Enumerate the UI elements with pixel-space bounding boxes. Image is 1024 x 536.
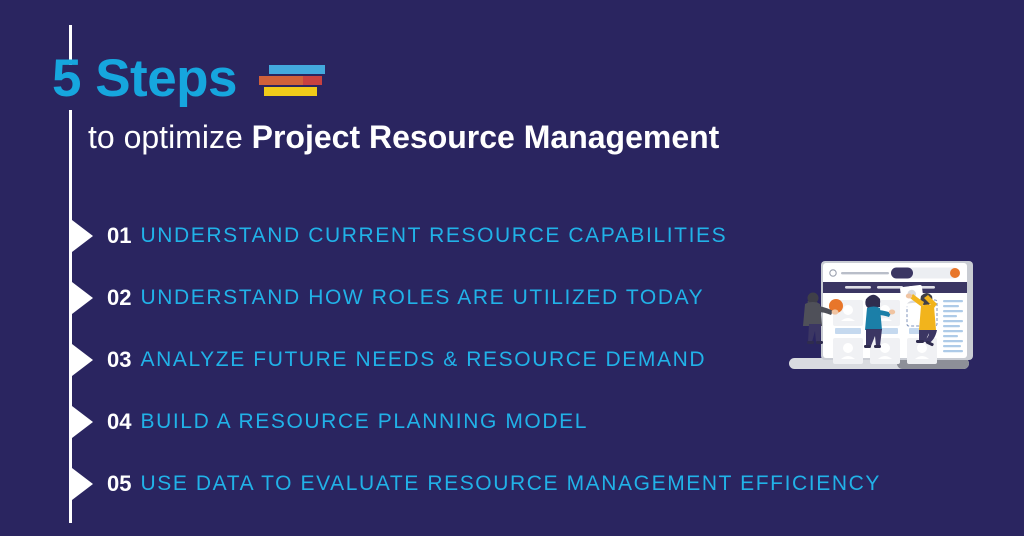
arrow-marker-icon <box>72 220 93 252</box>
step-label: UNDERSTAND HOW ROLES ARE UTILIZED TODAY <box>140 286 704 310</box>
stacked-bars-logo <box>259 63 325 101</box>
arrow-marker-icon <box>72 406 93 438</box>
step-number: 02 <box>107 285 131 311</box>
page-title: 5 Steps <box>52 52 237 105</box>
logo-bar-blue <box>269 65 325 74</box>
step-label: USE DATA TO EVALUATE RESOURCE MANAGEMENT… <box>140 472 881 496</box>
logo-bar-orange <box>259 76 303 85</box>
arrow-marker-icon <box>72 344 93 376</box>
list-item: 05 USE DATA TO EVALUATE RESOURCE MANAGEM… <box>69 453 949 515</box>
arrow-marker-icon <box>72 282 93 314</box>
title-row: 5 Steps <box>52 52 325 105</box>
arrow-marker-icon <box>72 468 93 500</box>
subtitle-strong-text: Project Resource Management <box>252 119 720 155</box>
step-number: 01 <box>107 223 131 249</box>
team-resource-management-illustration <box>785 250 990 378</box>
step-number: 05 <box>107 471 131 497</box>
step-number: 03 <box>107 347 131 373</box>
infographic-canvas: 5 Steps to optimize Project Resource Man… <box>0 0 1024 536</box>
subtitle-light-text: to optimize <box>88 119 243 155</box>
logo-bar-yellow <box>264 87 317 96</box>
page-subtitle: to optimize Project Resource Management <box>88 118 719 156</box>
list-item: 04 BUILD A RESOURCE PLANNING MODEL <box>69 391 949 453</box>
step-label: ANALYZE FUTURE NEEDS & RESOURCE DEMAND <box>140 348 706 372</box>
step-label: UNDERSTAND CURRENT RESOURCE CAPABILITIES <box>140 224 727 248</box>
step-label: BUILD A RESOURCE PLANNING MODEL <box>140 410 588 434</box>
step-number: 04 <box>107 409 131 435</box>
